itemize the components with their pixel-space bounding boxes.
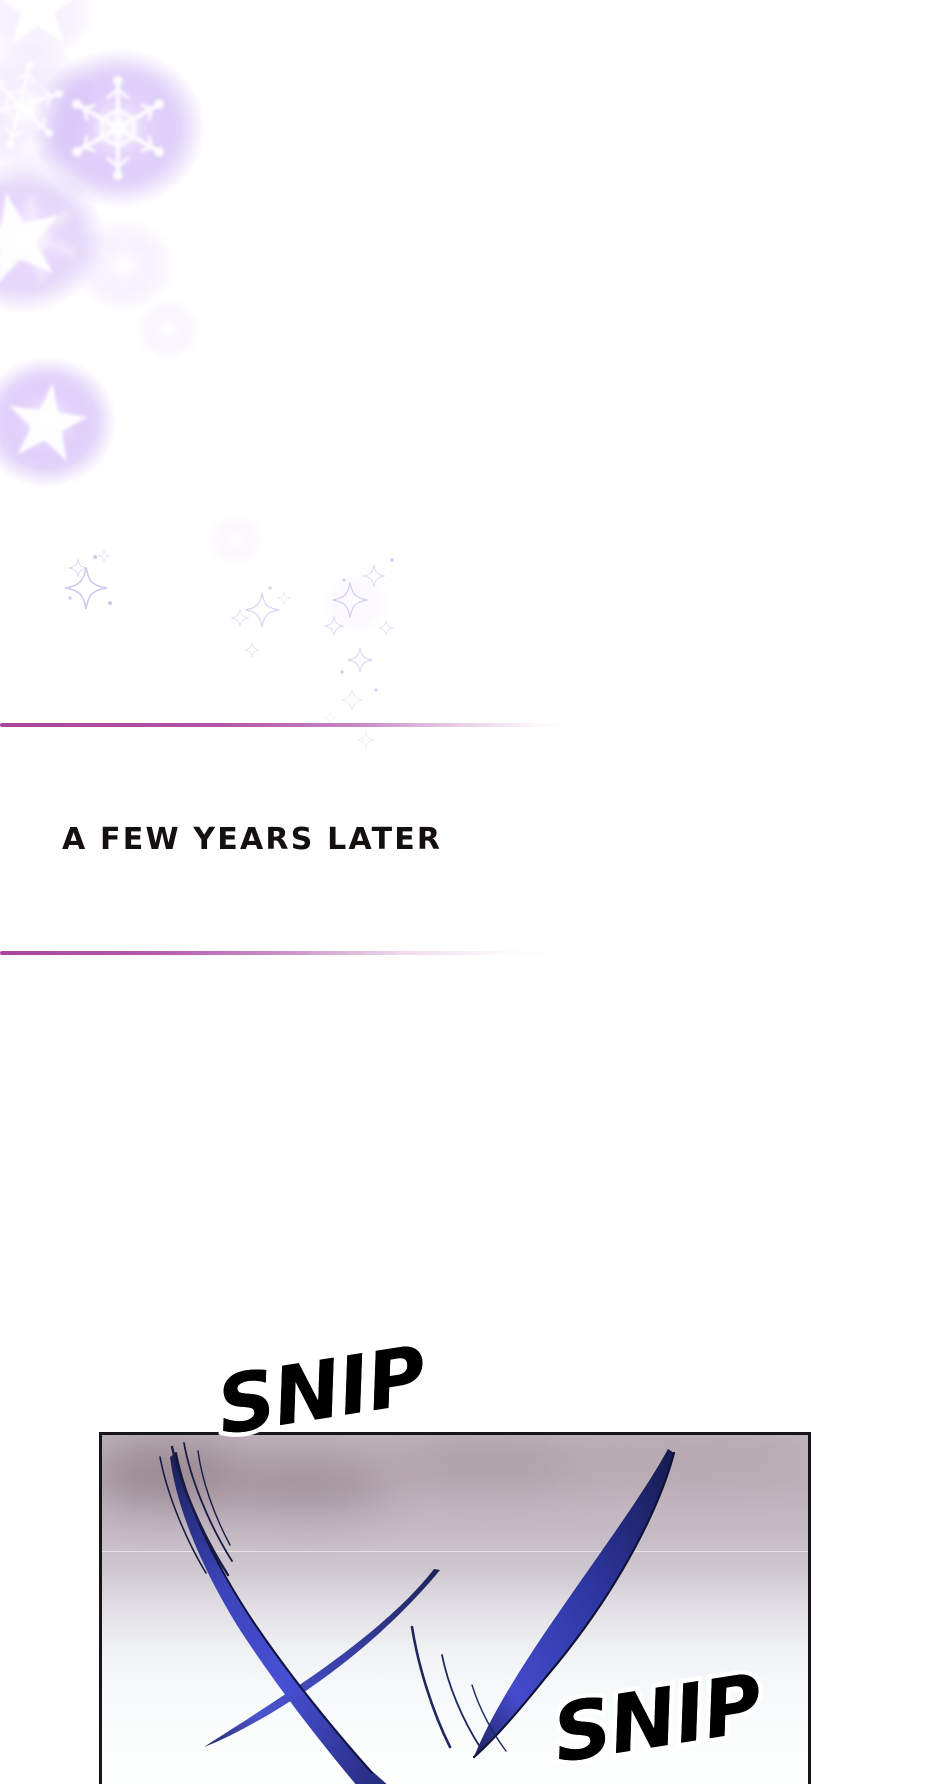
scene-divider-line-bottom (0, 951, 560, 955)
snowflake-center-upper (0, 52, 69, 158)
snowflake-small-mid (102, 240, 146, 290)
star-glow-lower-left (3, 378, 92, 464)
sparkle-cluster-right (324, 558, 393, 691)
scene-divider-line-top (0, 723, 575, 727)
snowflake-large-upper-left (72, 76, 164, 181)
panel-hairline (102, 1551, 808, 1552)
effects-canvas (0, 0, 940, 1100)
snowflake-glow-halos (0, 0, 390, 636)
scene-caption: A FEW YEARS LATER (62, 822, 442, 857)
magic-effects-layer (0, 0, 940, 1100)
star-burst-left (0, 182, 70, 289)
comic-page: A FEW YEARS LATER (0, 0, 940, 1784)
panel-smudge-far-right (572, 1435, 811, 1475)
hair-strand-falling (412, 1627, 506, 1751)
panel-smudge-right (382, 1437, 592, 1485)
sparkle-cluster-center (231, 586, 290, 657)
panel-smudge-mid (222, 1453, 392, 1511)
sfx-snip-top-fill: SNIP (212, 1335, 431, 1447)
sparkle-cluster-faint-low (323, 689, 374, 749)
snowflake-faint-mid (153, 313, 184, 348)
snowflake-mid-left (0, 192, 78, 285)
star-sparkle-top (0, 0, 80, 45)
scissor-blade-crossing (204, 1569, 440, 1747)
panel-smudge-left (99, 1441, 242, 1505)
star-small-upper (13, 129, 46, 161)
sparkle-cluster-left (65, 550, 112, 609)
